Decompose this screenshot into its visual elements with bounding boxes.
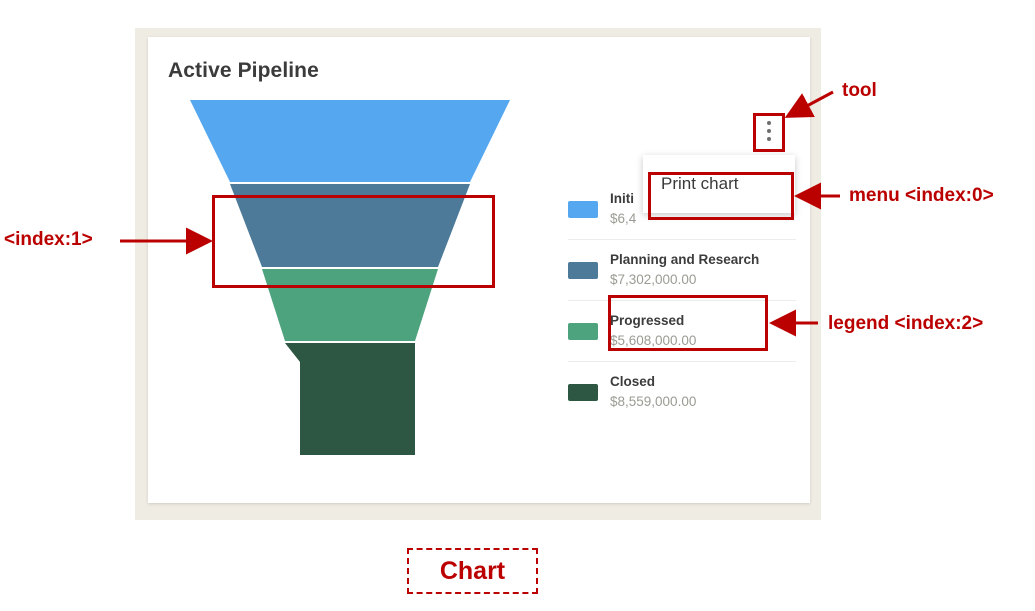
funnel-segment-closed[interactable]: [285, 343, 415, 455]
legend-swatch-initiated: [568, 201, 598, 218]
funnel-segment-progressed[interactable]: [262, 269, 438, 341]
page-title: Active Pipeline: [168, 59, 319, 83]
legend-label-initiated: Initi: [610, 191, 634, 206]
legend-label-closed: Closed: [610, 374, 655, 389]
annotation-label-legend: legend <index:2>: [828, 313, 983, 335]
screenshot-stage: Active Pipeline Initi $6,4: [0, 0, 1035, 611]
legend-label-planning-and-research: Planning and Research: [610, 252, 759, 267]
funnel-segment-initiated[interactable]: [190, 100, 510, 182]
legend-label-progressed: Progressed: [610, 313, 684, 328]
legend-item-planning-and-research[interactable]: Planning and Research $7,302,000.00: [568, 239, 796, 300]
legend-value-initiated: $6,4: [610, 211, 636, 226]
chart-context-menu: Print chart: [643, 155, 795, 213]
kebab-dot-icon: [767, 129, 771, 133]
legend-item-progressed[interactable]: Progressed $5,608,000.00: [568, 300, 796, 361]
legend-swatch-planning-and-research: [568, 262, 598, 279]
funnel-segment-planning-and-research[interactable]: [230, 184, 470, 267]
legend-value-progressed: $5,608,000.00: [610, 333, 696, 348]
chart-card: Active Pipeline Initi $6,4: [148, 37, 810, 503]
annotation-label-segment: <index:1>: [4, 229, 93, 251]
menu-item-print-chart[interactable]: Print chart: [643, 164, 795, 204]
kebab-dot-icon: [767, 121, 771, 125]
annotation-label-tool: tool: [842, 80, 877, 102]
legend-swatch-closed: [568, 384, 598, 401]
legend-item-closed[interactable]: Closed $8,559,000.00: [568, 361, 796, 422]
legend-swatch-progressed: [568, 323, 598, 340]
kebab-dot-icon: [767, 137, 771, 141]
legend-value-closed: $8,559,000.00: [610, 394, 696, 409]
legend-value-planning-and-research: $7,302,000.00: [610, 272, 696, 287]
chart-context-menu-button[interactable]: [755, 113, 783, 149]
annotation-label-chart: Chart: [407, 548, 538, 594]
annotation-label-menu: menu <index:0>: [849, 185, 994, 207]
chart-legend: Initi $6,4 Planning and Research $7,302,…: [568, 179, 796, 422]
